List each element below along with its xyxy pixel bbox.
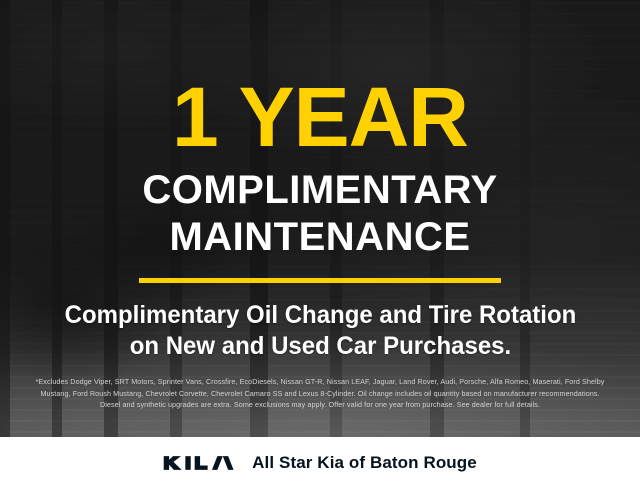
disclaimer-text: *Excludes Dodge Viper, SRT Motors, Sprin… bbox=[10, 376, 630, 411]
footer-bar: All Star Kia of Baton Rouge bbox=[0, 437, 640, 488]
tagline: Complimentary Oil Change and Tire Rotati… bbox=[64, 300, 576, 363]
promotional-banner: 1 YEAR COMPLIMENTARY MAINTENANCE Complim… bbox=[0, 0, 640, 488]
yellow-divider-rule bbox=[139, 278, 501, 283]
disclaimer-line-3: Diesel and synthetic upgrades are extra.… bbox=[10, 399, 630, 411]
disclaimer-line-2: Mustang, Ford Roush Mustang, Chevrolet C… bbox=[10, 388, 630, 400]
subhead-maintenance: MAINTENANCE bbox=[169, 217, 470, 257]
headline-one-year: 1 YEAR bbox=[172, 78, 468, 158]
banner-content: 1 YEAR COMPLIMENTARY MAINTENANCE Complim… bbox=[0, 0, 640, 488]
tagline-line-2: on New and Used Car Purchases. bbox=[64, 331, 576, 363]
kia-logo-icon bbox=[163, 452, 235, 474]
tagline-line-1: Complimentary Oil Change and Tire Rotati… bbox=[64, 300, 576, 332]
subhead-complimentary: COMPLIMENTARY bbox=[142, 170, 497, 210]
dealer-name: All Star Kia of Baton Rouge bbox=[252, 453, 477, 473]
disclaimer-line-1: *Excludes Dodge Viper, SRT Motors, Sprin… bbox=[10, 376, 630, 388]
